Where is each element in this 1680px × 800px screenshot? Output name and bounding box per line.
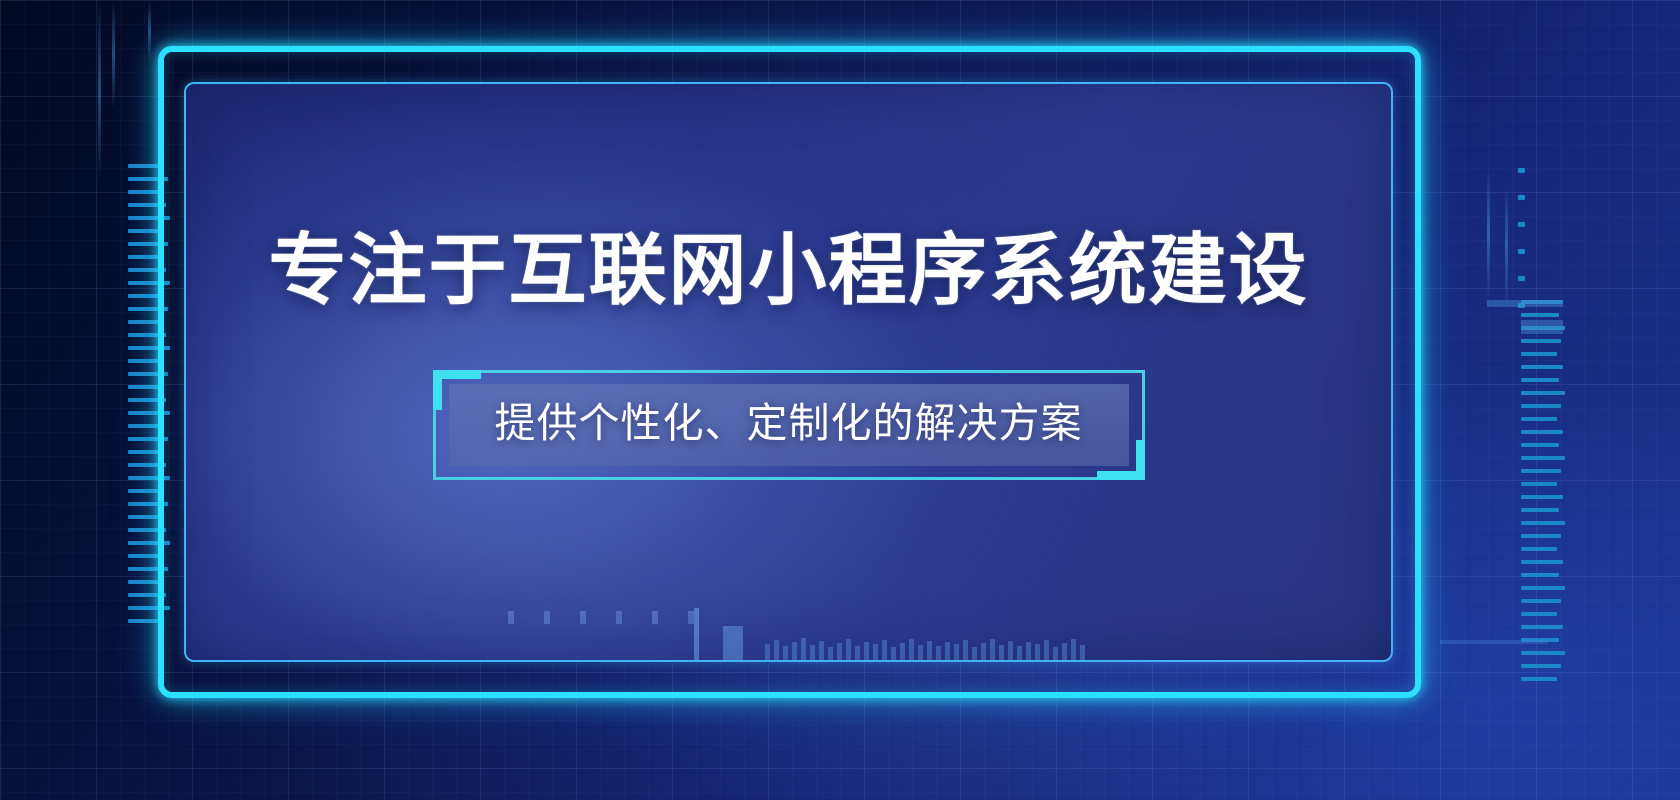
decor-vline: [1487, 168, 1490, 298]
bracket-edge-bottom: [433, 477, 1101, 480]
bracket-edge-right: [1142, 370, 1145, 443]
bracket-corner-bottom-right-icon: [1097, 440, 1145, 480]
page-subtitle: 提供个性化、定制化的解决方案: [495, 398, 1083, 449]
decor-vline: [98, 0, 101, 180]
inner-panel: 专注于互联网小程序系统建设 提供个性化、定制化的解决方案: [184, 82, 1393, 662]
decor-hbar: [1521, 320, 1563, 334]
decor-ladder-right: [1521, 300, 1565, 681]
decor-vline: [148, 0, 151, 62]
bracket-edge-top: [477, 370, 1145, 373]
hero-banner: 专注于互联网小程序系统建设 提供个性化、定制化的解决方案: [0, 0, 1680, 800]
bracket-edge-left: [433, 406, 436, 479]
decor-vline: [1505, 186, 1508, 306]
bracket-corner-top-left-icon: [433, 370, 481, 410]
decor-hbar: [1487, 300, 1563, 307]
banner-content: 专注于互联网小程序系统建设 提供个性化、定制化的解决方案: [186, 84, 1391, 660]
decor-hbar: [1440, 640, 1548, 644]
decor-ladder-left: [128, 164, 170, 623]
page-title: 专注于互联网小程序系统建设: [268, 232, 1308, 310]
decor-ticks-right-small: [1518, 168, 1525, 308]
subtitle-bracket-box: 提供个性化、定制化的解决方案: [449, 384, 1129, 465]
decor-vline: [112, 0, 115, 110]
